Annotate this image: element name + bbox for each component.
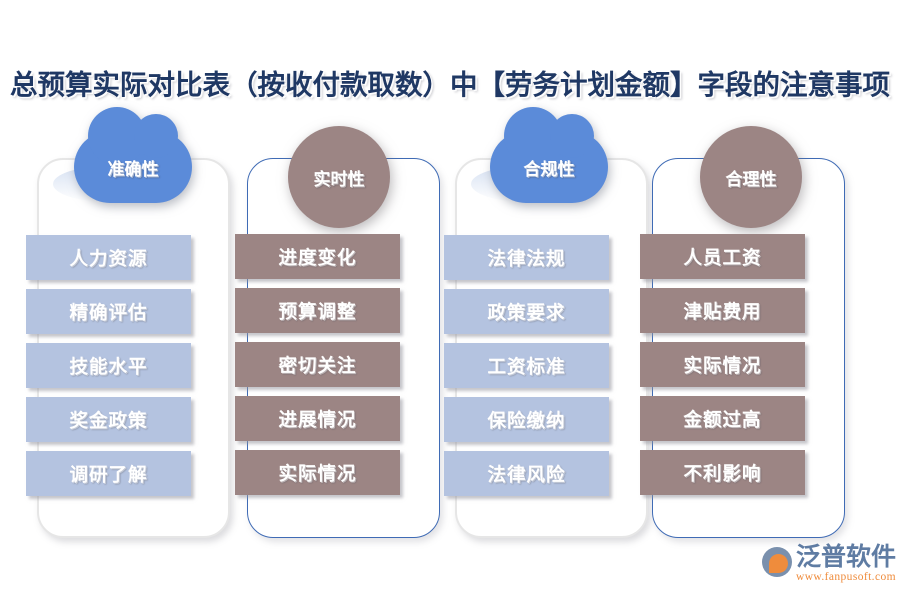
column-accuracy-items: 人力资源 精确评估 技能水平 奖金政策 调研了解: [26, 235, 191, 496]
list-item[interactable]: 调研了解: [26, 451, 191, 496]
list-item[interactable]: 实际情况: [640, 342, 805, 387]
brand-name: 泛普软件: [796, 545, 896, 570]
column-compliance-items: 法律法规 政策要求 工资标准 保险缴纳 法律风险: [444, 235, 609, 496]
column-accuracy: 人力资源 精确评估 技能水平 奖金政策 调研了解: [37, 158, 230, 538]
list-item[interactable]: 法律法规: [444, 235, 609, 280]
list-item[interactable]: 预算调整: [235, 288, 400, 333]
column-header-reasonableness[interactable]: 合理性: [700, 126, 802, 228]
column-reasonableness-items: 人员工资 津贴费用 实际情况 金额过高 不利影响: [640, 234, 805, 495]
brand-url: www.fanpusoft.com: [796, 572, 896, 584]
list-item[interactable]: 保险缴纳: [444, 397, 609, 442]
column-header-compliance[interactable]: 合规性: [490, 131, 608, 203]
list-item[interactable]: 人力资源: [26, 235, 191, 280]
list-item[interactable]: 精确评估: [26, 289, 191, 334]
column-timeliness-items: 进度变化 预算调整 密切关注 进展情况 实际情况: [235, 234, 400, 495]
list-item[interactable]: 进度变化: [235, 234, 400, 279]
brand-logo-text: 泛普软件 www.fanpusoft.com: [796, 545, 896, 584]
list-item[interactable]: 津贴费用: [640, 288, 805, 333]
page-title: 总预算实际对比表（按收付款取数）中【劳务计划金额】字段的注意事项: [0, 62, 900, 102]
list-item[interactable]: 技能水平: [26, 343, 191, 388]
brand-logo: 泛普软件 www.fanpusoft.com: [762, 545, 896, 584]
list-item[interactable]: 密切关注: [235, 342, 400, 387]
list-item[interactable]: 法律风险: [444, 451, 609, 496]
fanpu-logo-icon: [762, 547, 792, 577]
list-item[interactable]: 奖金政策: [26, 397, 191, 442]
list-item[interactable]: 进展情况: [235, 396, 400, 441]
column-header-accuracy[interactable]: 准确性: [74, 131, 192, 203]
slide-canvas: 泛普软件 FANPU SOFTWARE 泛普软件 FANPU SOFTWARE …: [0, 0, 900, 600]
list-item[interactable]: 工资标准: [444, 343, 609, 388]
list-item[interactable]: 人员工资: [640, 234, 805, 279]
list-item[interactable]: 不利影响: [640, 450, 805, 495]
column-header-timeliness[interactable]: 实时性: [288, 126, 390, 228]
list-item[interactable]: 金额过高: [640, 396, 805, 441]
list-item[interactable]: 政策要求: [444, 289, 609, 334]
column-compliance: 法律法规 政策要求 工资标准 保险缴纳 法律风险: [455, 158, 648, 538]
list-item[interactable]: 实际情况: [235, 450, 400, 495]
